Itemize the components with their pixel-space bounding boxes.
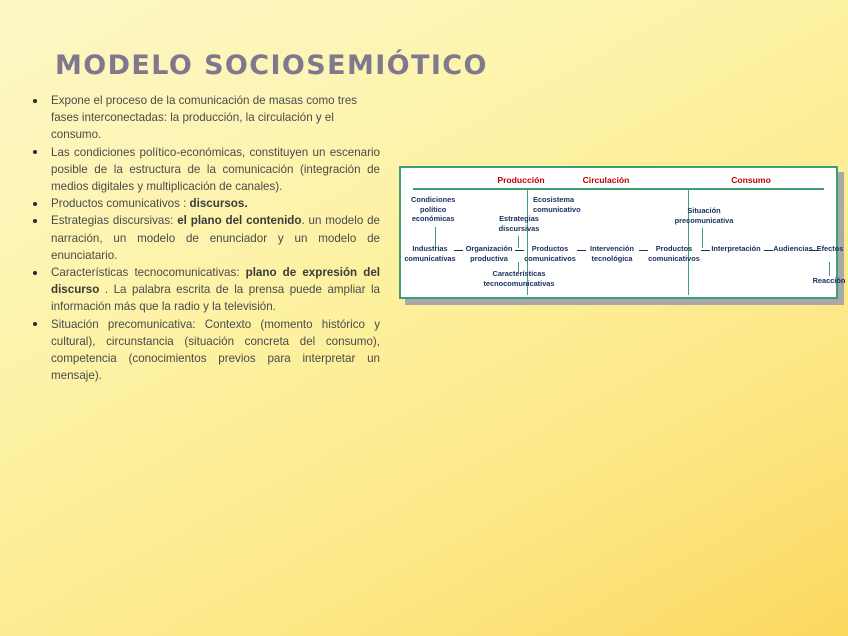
dash-interpretacion-audiencias bbox=[764, 250, 773, 251]
bullet-condiciones-run-0: Las condiciones político-económicas, con… bbox=[51, 146, 380, 193]
node-caracteristicas-line1: Características bbox=[473, 269, 565, 279]
node-estrategias-line1: Estrategias bbox=[484, 214, 554, 224]
bullet-estrategias-run-1: el plano del contenido bbox=[177, 214, 301, 227]
node-estrategias-line2: discursivas bbox=[484, 224, 554, 234]
connector-reaccion bbox=[829, 262, 830, 276]
node-efectos: Efectos bbox=[813, 244, 847, 254]
node-ecosistema-line2: comunicativo bbox=[533, 205, 591, 215]
node-industrias-line1: Industrias bbox=[402, 244, 458, 254]
node-productos2-line2: comunicativos bbox=[644, 254, 704, 264]
node-condiciones-line2: político bbox=[411, 205, 455, 215]
bullet-list: Expone el proceso de la comunicación de … bbox=[28, 92, 380, 384]
bullet-caracteristicas-run-0: Características tecnocomunicativas: bbox=[51, 266, 246, 279]
node-caracteristicas-line2: tecnocomunicativas bbox=[473, 279, 565, 289]
dash-industrias-organizacion bbox=[454, 250, 463, 251]
bullet-estrategias: Estrategias discursivas: el plano del co… bbox=[28, 212, 380, 264]
page-title: Modelo sociosemiótico bbox=[55, 50, 488, 81]
node-productos1-line2: comunicativos bbox=[520, 254, 580, 264]
node-organizacion-line1: Organización bbox=[460, 244, 518, 254]
node-situacion-line2: precomunicativa bbox=[659, 216, 749, 226]
node-intervencion-line2: tecnológica bbox=[582, 254, 642, 264]
diagram-frame: Producción Circulación Consumo Condicion… bbox=[399, 166, 838, 299]
bullet-condiciones: Las condiciones político-económicas, con… bbox=[28, 144, 380, 196]
bullet-productos: Productos comunicativos : discursos. bbox=[28, 195, 380, 212]
bullet-situacion-run-0: Situación precomunicativa: Contexto (mom… bbox=[51, 318, 380, 383]
phase-heading-consumo: Consumo bbox=[691, 175, 811, 185]
diagram-content: Producción Circulación Consumo Condicion… bbox=[401, 168, 836, 297]
bullet-estrategias-run-0: Estrategias discursivas: bbox=[51, 214, 177, 227]
node-condiciones-line3: económicas bbox=[411, 214, 455, 224]
dash-organizacion-productos bbox=[515, 250, 524, 251]
dash-audiencias-efectos bbox=[809, 250, 818, 251]
slide-canvas: Modelo sociosemiótico Expone el proceso … bbox=[0, 0, 848, 636]
node-ecosistema-line1: Ecosistema bbox=[533, 195, 591, 205]
node-caracteristicas-tecnocomunicativas: Características tecnocomunicativas bbox=[473, 269, 565, 288]
phase-heading-circulacion: Circulación bbox=[546, 175, 666, 185]
node-organizacion-line2: productiva bbox=[460, 254, 518, 264]
bullet-productos-run-1: discursos. bbox=[190, 197, 248, 210]
node-situacion-precomunicativa: Situación precomunicativa bbox=[659, 206, 749, 225]
node-intervencion-tecnologica: Intervención tecnológica bbox=[582, 244, 642, 263]
node-productos1-line1: Productos bbox=[520, 244, 580, 254]
bullet-situacion: Situación precomunicativa: Contexto (mom… bbox=[28, 316, 380, 385]
node-organizacion-productiva: Organización productiva bbox=[460, 244, 518, 263]
node-condiciones-line1: Condiciones bbox=[411, 195, 455, 205]
dash-intervencion-productos2 bbox=[639, 250, 648, 251]
bullet-caracteristicas-run-2: . La palabra escrita de la prensa puede … bbox=[51, 283, 380, 313]
node-interpretacion: Interpretación bbox=[705, 244, 767, 254]
dash-productos2-interpretacion bbox=[701, 250, 710, 251]
node-productos-comunicativos-1: Productos comunicativos bbox=[520, 244, 580, 263]
node-audiencias: Audiencias bbox=[769, 244, 817, 254]
bullet-caracteristicas: Características tecnocomunicativas: plan… bbox=[28, 264, 380, 316]
node-industrias-comunicativas: Industrias comunicativas bbox=[402, 244, 458, 263]
node-reaccion: Reacción bbox=[801, 276, 848, 286]
node-productos-comunicativos-2: Productos comunicativos bbox=[644, 244, 704, 263]
node-ecosistema-comunicativo: Ecosistema comunicativo bbox=[533, 195, 591, 214]
diagram-header-rule bbox=[413, 188, 824, 190]
node-intervencion-line1: Intervención bbox=[582, 244, 642, 254]
bullet-productos-run-0: Productos comunicativos : bbox=[51, 197, 190, 210]
node-productos2-line1: Productos bbox=[644, 244, 704, 254]
sociosemiotic-diagram: Producción Circulación Consumo Condicion… bbox=[399, 166, 838, 299]
dash-productos-intervencion bbox=[577, 250, 586, 251]
bullet-exposicion: Expone el proceso de la comunicación de … bbox=[28, 92, 380, 144]
node-estrategias-discursivas: Estrategias discursivas bbox=[484, 214, 554, 233]
node-condiciones: Condiciones político económicas bbox=[411, 195, 455, 224]
node-industrias-line2: comunicativas bbox=[402, 254, 458, 264]
bullet-exposicion-run-0: Expone el proceso de la comunicación de … bbox=[51, 94, 357, 141]
node-situacion-line1: Situación bbox=[659, 206, 749, 216]
